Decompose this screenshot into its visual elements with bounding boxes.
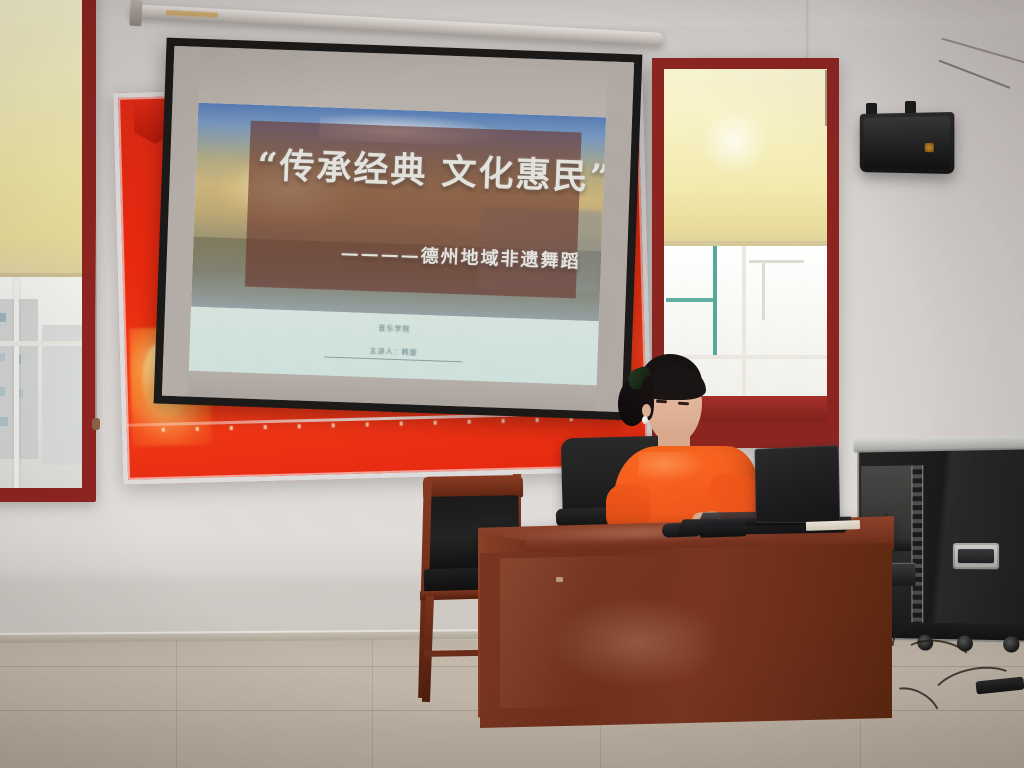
slide-organization: 音乐学院 <box>190 317 598 342</box>
blind-cord-left[interactable] <box>95 214 97 424</box>
screen-case-label <box>166 10 218 18</box>
desk-keyhole <box>556 577 563 582</box>
slide-speaker-line: 主讲人：韩旋 <box>190 340 598 365</box>
desk-light-reflection <box>552 596 722 688</box>
speaker-logo-icon <box>925 143 934 152</box>
roller-blind-right[interactable] <box>664 69 827 246</box>
rack-caster <box>1003 636 1019 653</box>
blind-cord-weight-left[interactable] <box>92 418 100 430</box>
window-left-glazing <box>0 0 82 488</box>
presentation-slide: “传承经典 文化惠民” ————德州地域非遗舞蹈 音乐学院 主讲人：韩旋 <box>189 103 606 385</box>
window-left <box>0 0 96 502</box>
photo-scene: “传承经典 文化惠民” ————德州地域非遗舞蹈 音乐学院 主讲人：韩旋 <box>0 0 1024 768</box>
projector-screen-surface: “传承经典 文化惠民” ————德州地域非遗舞蹈 音乐学院 主讲人：韩旋 <box>162 46 634 412</box>
papers-on-desk[interactable] <box>806 520 860 531</box>
screen-mount-bracket <box>129 0 142 26</box>
window-left-glass <box>0 277 82 488</box>
wall-speaker <box>860 112 955 174</box>
blind-cord-right[interactable] <box>825 70 827 126</box>
laptop-lid[interactable] <box>755 445 840 523</box>
roller-blind-left[interactable] <box>0 0 82 277</box>
sweater-highlight <box>638 452 704 482</box>
earring <box>642 416 648 424</box>
speaker-grille <box>863 116 950 170</box>
rack-handle[interactable] <box>953 543 999 569</box>
ear <box>642 404 651 417</box>
rack-mounting-rail <box>911 465 923 626</box>
projector-screen-frame: “传承经典 文化惠民” ————德州地域非遗舞蹈 音乐学院 主讲人：韩旋 <box>154 38 643 421</box>
